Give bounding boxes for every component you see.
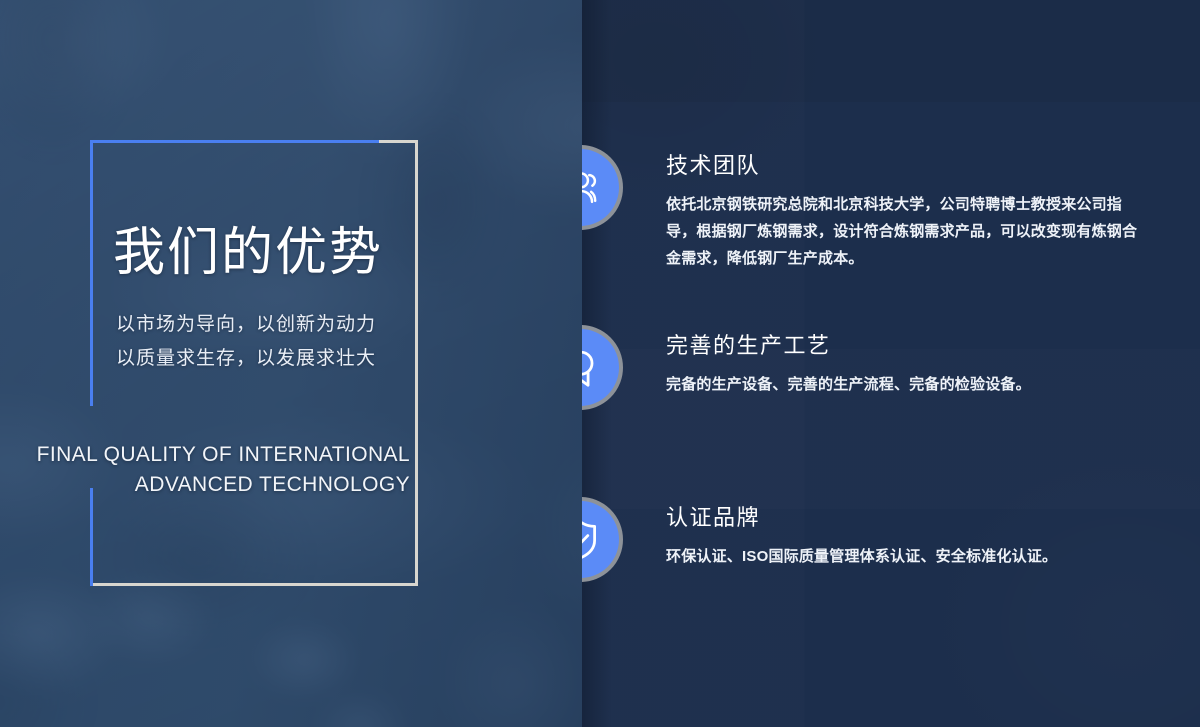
feature-title: 技术团队 (666, 153, 1124, 179)
english-tagline-line-1: FINAL QUALITY OF INTERNATIONAL (0, 440, 410, 470)
english-tagline-line-2: ADVANCED TECHNOLOGY (0, 470, 410, 500)
advantages-banner: 我们的优势 以市场为导向，以创新为动力 以质量求生存，以发展求壮大 FINAL … (0, 0, 1200, 727)
right-features-panel: 技术团队 依托北京钢铁研究总院和北京科技大学，公司特聘博士教授来公司指导，根据钢… (582, 0, 1200, 727)
medal-award-icon (582, 325, 623, 410)
english-tagline: FINAL QUALITY OF INTERNATIONAL ADVANCED … (0, 440, 410, 500)
feature-body: 完善的生产工艺 完备的生产设备、完善的生产流程、完备的检验设备。 (666, 333, 1124, 398)
left-photo-panel: 我们的优势 以市场为导向，以创新为动力 以质量求生存，以发展求壮大 FINAL … (0, 0, 582, 727)
feature-body: 技术团队 依托北京钢铁研究总院和北京科技大学，公司特聘博士教授来公司指导，根据钢… (666, 153, 1124, 272)
shield-check-icon (582, 497, 623, 582)
feature-description: 完备的生产设备、完善的生产流程、完备的检验设备。 (666, 371, 1144, 398)
feature-list: 技术团队 依托北京钢铁研究总院和北京科技大学，公司特聘博士教授来公司指导，根据钢… (582, 0, 1200, 727)
feature-title: 完善的生产工艺 (666, 333, 1124, 359)
subtitle-line-2: 以质量求生存，以发展求壮大 (116, 343, 376, 370)
feature-body: 认证品牌 环保认证、ISO国际质量管理体系认证、安全标准化认证。 (666, 505, 1124, 570)
left-content: 我们的优势 以市场为导向，以创新为动力 以质量求生存，以发展求壮大 FINAL … (0, 0, 582, 727)
users-group-icon (582, 145, 623, 230)
feature-title: 认证品牌 (666, 505, 1124, 531)
feature-description: 环保认证、ISO国际质量管理体系认证、安全标准化认证。 (666, 543, 1144, 570)
page-title: 我们的优势 (113, 226, 383, 281)
feature-description: 依托北京钢铁研究总院和北京科技大学，公司特聘博士教授来公司指导，根据钢厂炼钢需求… (666, 191, 1144, 272)
subtitle-line-1: 以市场为导向，以创新为动力 (116, 309, 376, 336)
